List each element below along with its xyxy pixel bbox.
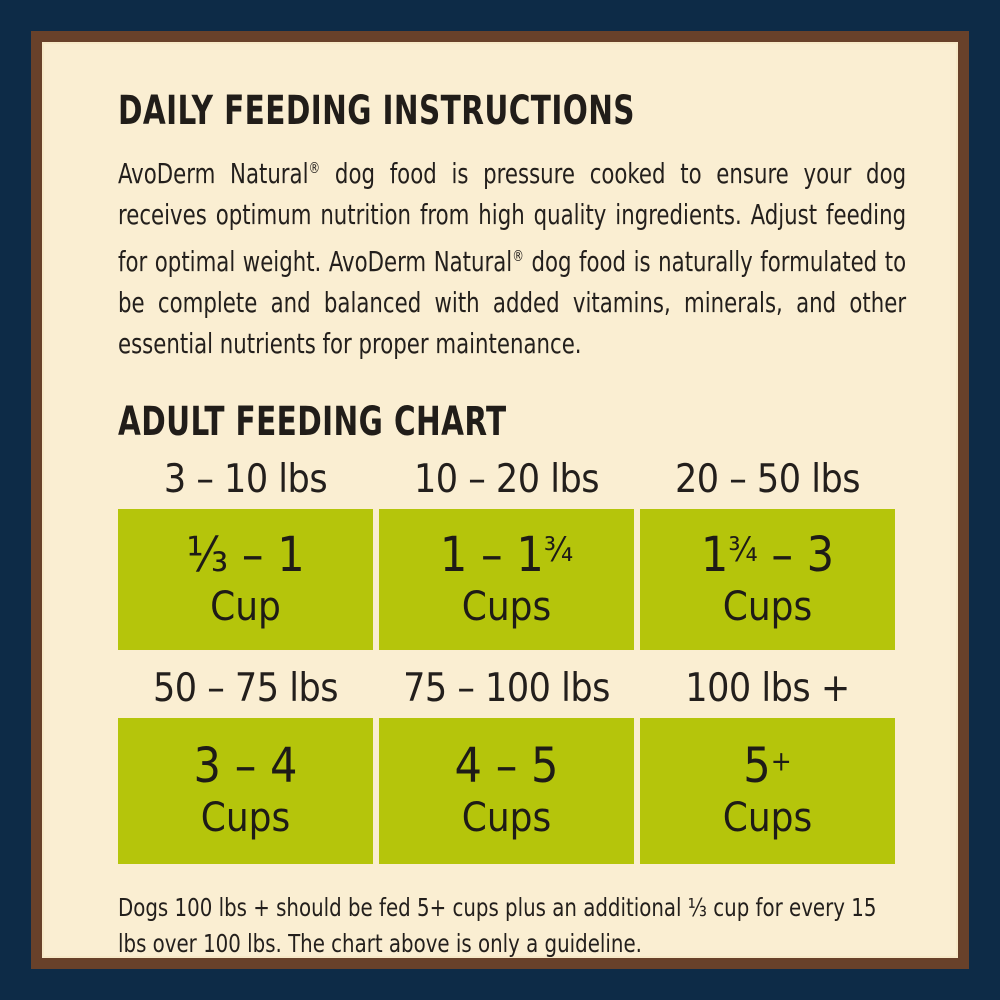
instructions-section: DAILY FEEDING INSTRUCTIONS <box>118 88 908 134</box>
chart-column-20-50: 20 – 50 lbs 1¾ – 3 Cups <box>640 451 895 650</box>
registered-mark-2: ® <box>512 247 524 265</box>
amount-main: 1 – 1 <box>440 527 544 583</box>
content-card: DAILY FEEDING INSTRUCTIONS AvoDerm Natur… <box>42 42 958 958</box>
amount-main: 1 <box>701 527 728 583</box>
decorative-frame: DAILY FEEDING INSTRUCTIONS AvoDerm Natur… <box>31 31 969 969</box>
amount-value: 5+ <box>743 742 791 790</box>
instructions-paragraph: AvoDerm Natural® dog food is pressure co… <box>118 148 906 365</box>
chart-row-1: 3 – 10 lbs ⅓ – 1 Cup 10 – 20 lbs 1 – 1¾ … <box>118 451 895 650</box>
weight-label: 50 – 75 lbs <box>118 660 373 718</box>
weight-label: 75 – 100 lbs <box>379 660 634 718</box>
amount-plus: + <box>771 745 792 778</box>
chart-column-50-75: 50 – 75 lbs 3 – 4 Cups <box>118 660 373 864</box>
weight-label: 3 – 10 lbs <box>118 451 373 509</box>
chart-column-75-100: 75 – 100 lbs 4 – 5 Cups <box>379 660 634 864</box>
amount-fraction: ¾ <box>544 530 573 569</box>
feeding-instructions-panel: DAILY FEEDING INSTRUCTIONS AvoDerm Natur… <box>0 0 1000 1000</box>
amount-value: ⅓ – 1 <box>186 531 304 579</box>
amount-unit: Cups <box>201 796 291 840</box>
amount-value: 4 – 5 <box>455 742 559 790</box>
chart-heading: ADULT FEEDING CHART <box>118 399 766 445</box>
amount-unit: Cup <box>210 585 281 629</box>
chart-section: ADULT FEEDING CHART <box>118 399 908 445</box>
feeding-amount-cell: 5+ Cups <box>640 718 895 864</box>
chart-row-2: 50 – 75 lbs 3 – 4 Cups 75 – 100 lbs 4 – … <box>118 660 895 864</box>
feeding-chart-grid: 3 – 10 lbs ⅓ – 1 Cup 10 – 20 lbs 1 – 1¾ … <box>118 451 895 864</box>
feeding-amount-cell: ⅓ – 1 Cup <box>118 509 373 650</box>
amount-unit: Cups <box>462 796 552 840</box>
chart-column-3-10: 3 – 10 lbs ⅓ – 1 Cup <box>118 451 373 650</box>
feeding-amount-cell: 1 – 1¾ Cups <box>379 509 634 650</box>
instructions-heading: DAILY FEEDING INSTRUCTIONS <box>118 88 766 134</box>
amount-value: 3 – 4 <box>194 742 298 790</box>
feeding-amount-cell: 4 – 5 Cups <box>379 718 634 864</box>
amount-main: 4 – 5 <box>455 738 559 794</box>
amount-main: 3 – 4 <box>194 738 298 794</box>
weight-label: 20 – 50 lbs <box>640 451 895 509</box>
feeding-amount-cell: 3 – 4 Cups <box>118 718 373 864</box>
amount-tail: – 3 <box>758 527 834 583</box>
amount-unit: Cups <box>723 796 813 840</box>
amount-main: 5 <box>743 738 770 794</box>
amount-unit: Cups <box>462 585 552 629</box>
chart-column-100-plus: 100 lbs + 5+ Cups <box>640 660 895 864</box>
amount-unit: Cups <box>723 585 813 629</box>
chart-column-10-20: 10 – 20 lbs 1 – 1¾ Cups <box>379 451 634 650</box>
amount-main: ⅓ – 1 <box>186 527 304 583</box>
amount-value: 1¾ – 3 <box>701 531 834 579</box>
feeding-amount-cell: 1¾ – 3 Cups <box>640 509 895 650</box>
chart-footnote: Dogs 100 lbs + should be fed 5+ cups plu… <box>118 890 904 962</box>
registered-mark-1: ® <box>309 159 321 177</box>
amount-value: 1 – 1¾ <box>440 531 573 579</box>
amount-fraction: ¾ <box>728 530 757 569</box>
paragraph-text-1: AvoDerm Natural <box>118 158 309 190</box>
content-column: DAILY FEEDING INSTRUCTIONS AvoDerm Natur… <box>118 88 908 962</box>
weight-label: 10 – 20 lbs <box>379 451 634 509</box>
weight-label: 100 lbs + <box>640 660 895 718</box>
